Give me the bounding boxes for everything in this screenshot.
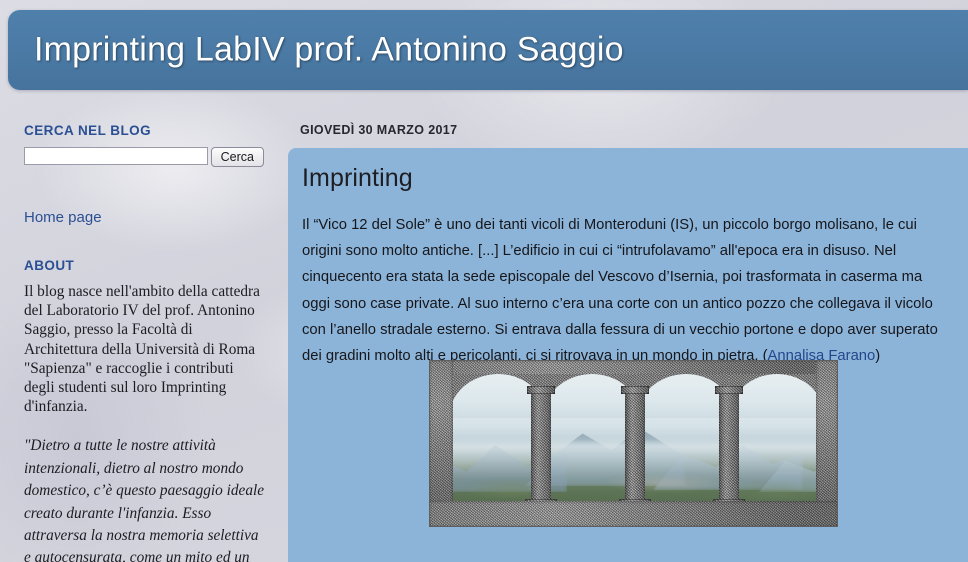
post-body-text-part-2: ) <box>875 348 880 364</box>
column-capital <box>527 386 555 394</box>
about-section-heading: ABOUT <box>24 258 264 273</box>
blog-search-form: Cerca <box>24 147 264 167</box>
search-input[interactable] <box>24 147 208 165</box>
post-title: Imprinting <box>302 164 968 193</box>
post-date-header: GIOVEDÌ 30 MARZO 2017 <box>300 123 968 137</box>
post-panel: Imprinting Il “Vico 12 del Sole” è uno d… <box>288 148 968 562</box>
sidebar: CERCA NEL BLOG Cerca Home page ABOUT Il … <box>0 105 288 562</box>
about-body-text: Il blog nasce nell'ambito della cattedra… <box>24 282 262 416</box>
search-section-heading: CERCA NEL BLOG <box>24 123 264 138</box>
blog-title: Imprinting LabIV prof. Antonino Saggio <box>34 31 624 70</box>
about-quote-text: "Dietro a tutte le nostre attività inten… <box>24 435 264 562</box>
stone-arcade-frame <box>429 360 838 527</box>
stone-arch-4 <box>729 374 825 418</box>
column-capital <box>715 386 743 394</box>
main-column: GIOVEDÌ 30 MARZO 2017 Imprinting Il “Vic… <box>288 105 968 562</box>
column-capital <box>621 386 649 394</box>
search-submit-button[interactable]: Cerca <box>211 147 264 167</box>
post-body: Il “Vico 12 del Sole” è uno dei tanti vi… <box>302 212 954 369</box>
site-header-banner: Imprinting LabIV prof. Antonino Saggio <box>8 10 968 90</box>
post-image[interactable] <box>429 360 838 527</box>
post-body-text-part-1: Il “Vico 12 del Sole” è uno dei tanti vi… <box>302 217 938 364</box>
stone-parapet-bottom <box>429 501 838 527</box>
post-image-canvas <box>429 360 838 527</box>
home-page-link[interactable]: Home page <box>24 209 102 226</box>
